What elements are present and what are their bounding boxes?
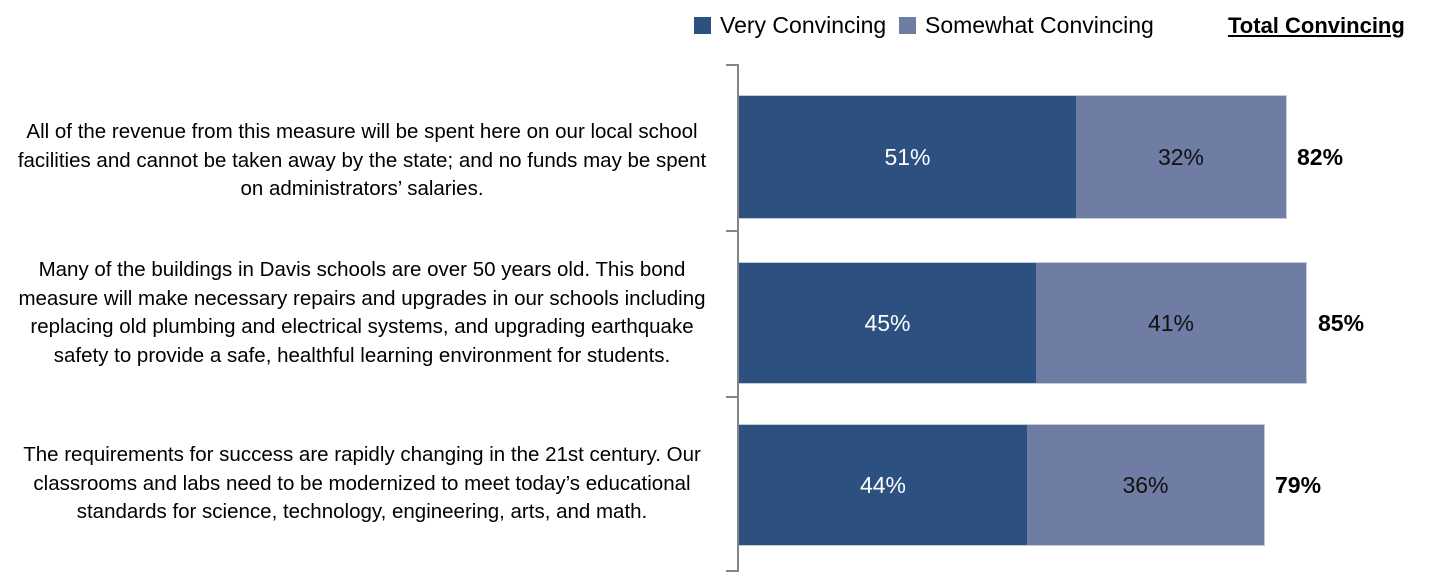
bar-category-label: The requirements for success are rapidly… [4,441,720,527]
table-row: Many of the buildings in Davis schools a… [0,230,1434,396]
bar-total-value: 79% [1275,474,1321,497]
legend-item-somewhat-convincing: Somewhat Convincing [899,14,1154,37]
bar-segment-very-convincing[interactable]: 44% [739,424,1027,546]
chart-legend: Very Convincing Somewhat Convincing Tota… [0,0,1434,56]
legend-label-somewhat-convincing: Somewhat Convincing [925,14,1154,37]
bar-segment-very-convincing[interactable]: 45% [739,262,1036,384]
total-convincing-header: Total Convincing [1228,14,1405,38]
legend-label-very-convincing: Very Convincing [720,14,886,37]
bar-total-value: 85% [1318,312,1364,335]
bar-segment-value: 41% [1148,312,1194,335]
bar-segment-somewhat-convincing[interactable]: 36% [1027,424,1265,546]
bar-segment-value: 32% [1158,146,1204,169]
plot-area: All of the revenue from this measure wil… [0,56,1434,572]
legend-item-very-convincing: Very Convincing [694,14,886,37]
bar-segment-value: 36% [1122,474,1168,497]
bar-total-value: 82% [1297,146,1343,169]
bar-segment-value: 51% [884,146,930,169]
stacked-bar-chart: Very Convincing Somewhat Convincing Tota… [0,0,1434,572]
table-row: All of the revenue from this measure wil… [0,64,1434,230]
bar-segment-somewhat-convincing[interactable]: 41% [1036,262,1307,384]
legend-swatch-somewhat-convincing-icon [899,17,916,34]
bar-category-label: All of the revenue from this measure wil… [4,118,720,204]
stacked-bar[interactable]: 44% 36% [739,424,1265,546]
bar-segment-value: 44% [860,474,906,497]
bar-segment-very-convincing[interactable]: 51% [739,95,1076,219]
stacked-bar[interactable]: 45% 41% [739,262,1307,384]
bar-category-label: Many of the buildings in Davis schools a… [4,256,720,370]
bar-segment-value: 45% [864,312,910,335]
table-row: The requirements for success are rapidly… [0,396,1434,570]
bar-segment-somewhat-convincing[interactable]: 32% [1076,95,1287,219]
legend-swatch-very-convincing-icon [694,17,711,34]
stacked-bar[interactable]: 51% 32% [739,95,1287,219]
